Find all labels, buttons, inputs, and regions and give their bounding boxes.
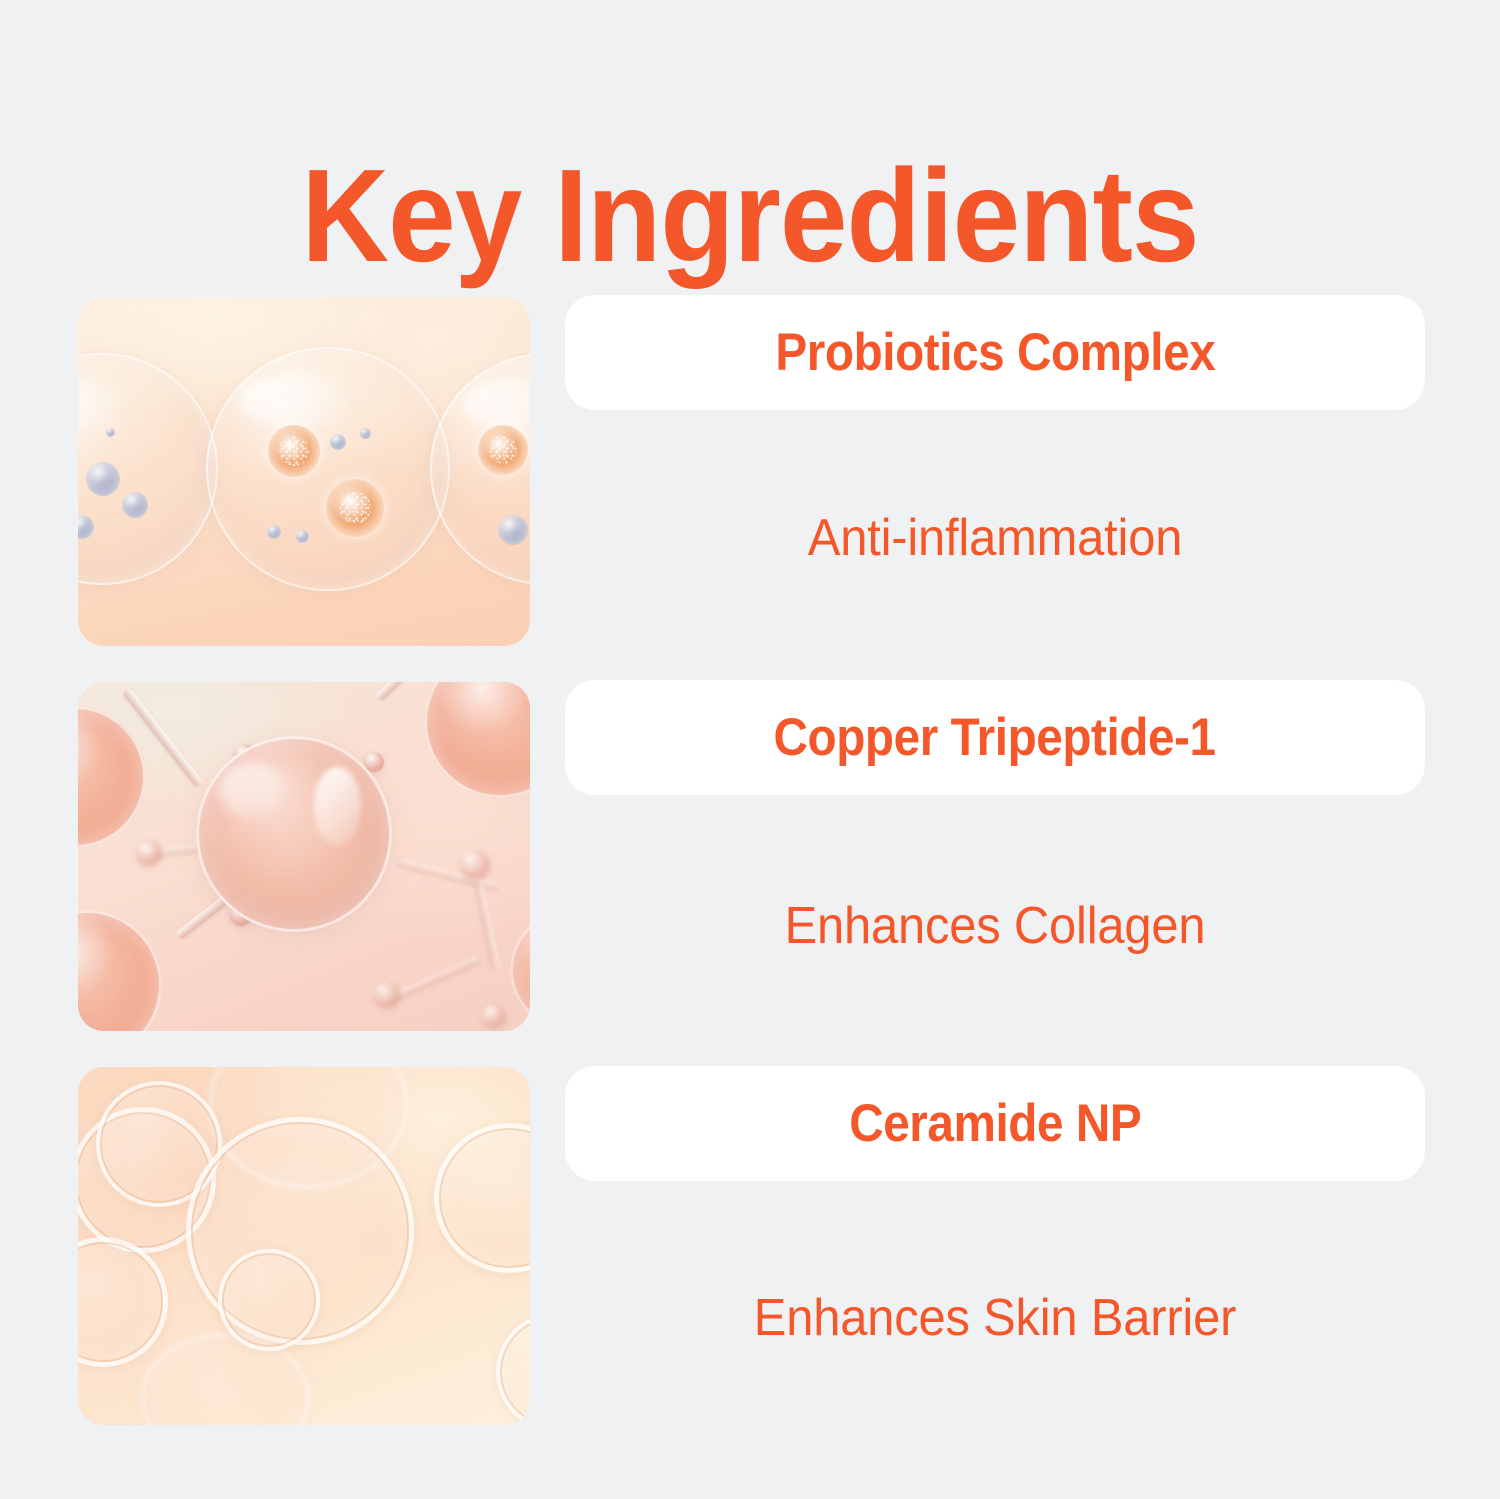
- bubble-ring: [218, 1249, 320, 1351]
- bubble-shape: [206, 347, 450, 591]
- molecule-node: [374, 982, 400, 1008]
- ingredient-benefit: Enhances Collagen: [591, 900, 1399, 952]
- molecule-node: [136, 840, 162, 866]
- molecule-sphere: [78, 706, 146, 848]
- ingredient-card-probiotics-complex[interactable]: Probiotics Complex: [565, 295, 1425, 410]
- probiotic-bubbles-artwork: [78, 297, 530, 646]
- probiotic-granule: [268, 425, 320, 477]
- ingredient-benefit: Anti-inflammation: [591, 512, 1399, 564]
- bubble-ring: [78, 1237, 168, 1367]
- key-ingredients-page: Key Ingredients Probiot: [0, 0, 1500, 1499]
- microbe-sphere: [267, 525, 281, 539]
- microbe-sphere: [106, 428, 115, 437]
- molecule-node: [482, 1004, 506, 1028]
- microbe-sphere: [498, 515, 528, 545]
- microbe-sphere: [86, 462, 120, 496]
- probiotic-granule: [478, 425, 528, 475]
- molecule-sphere: [510, 910, 530, 1030]
- ingredient-name: Probiotics Complex: [775, 326, 1215, 379]
- molecule-sphere: [424, 682, 530, 798]
- probiotic-bubbles-image: [78, 297, 530, 646]
- microbe-sphere: [296, 530, 309, 543]
- ingredient-card-ceramide-np[interactable]: Ceramide NP: [565, 1066, 1425, 1181]
- page-title: Key Ingredients: [60, 150, 1440, 282]
- bubble-ring: [434, 1123, 530, 1273]
- molecule-node: [460, 850, 490, 880]
- ingredient-name: Copper Tripeptide-1: [774, 711, 1216, 764]
- microbe-sphere: [360, 428, 371, 439]
- bubble-ring: [496, 1313, 530, 1425]
- microbe-sphere: [330, 434, 346, 450]
- ingredient-name: Ceramide NP: [849, 1097, 1141, 1150]
- microbe-sphere: [122, 492, 148, 518]
- molecule-center-sphere: [196, 736, 392, 932]
- peptide-molecule-artwork: [78, 682, 530, 1031]
- ceramide-bubble-rings-image: [78, 1067, 530, 1425]
- ingredient-benefit: Enhances Skin Barrier: [591, 1292, 1399, 1344]
- ingredient-card-copper-tripeptide-1[interactable]: Copper Tripeptide-1: [565, 680, 1425, 795]
- molecule-sphere: [78, 910, 162, 1031]
- peptide-molecule-image: [78, 682, 530, 1031]
- ceramide-bubble-rings-artwork: [78, 1067, 530, 1425]
- probiotic-granule: [326, 479, 384, 537]
